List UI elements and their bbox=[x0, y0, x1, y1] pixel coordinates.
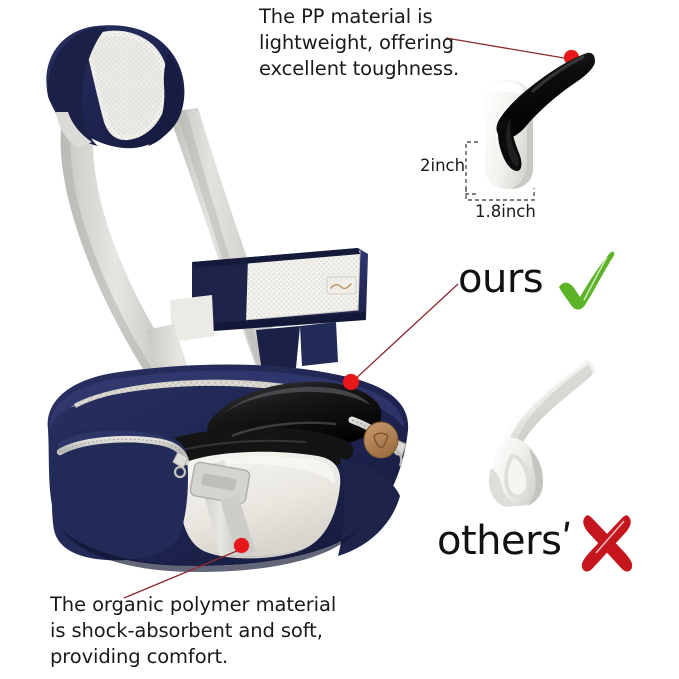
callout-dot-middle bbox=[343, 374, 359, 390]
callout-line-middle bbox=[336, 280, 466, 390]
ours-product-hook bbox=[465, 35, 600, 200]
others-label: othersʹ bbox=[437, 521, 572, 561]
red-cross-icon bbox=[576, 509, 638, 579]
ours-black-lever bbox=[497, 53, 596, 171]
others-product-hook bbox=[465, 330, 615, 520]
leather-patch bbox=[364, 422, 398, 458]
others-white-hook-body bbox=[489, 438, 543, 507]
ours-label: ours bbox=[458, 259, 543, 299]
callout-dot-bottom bbox=[234, 538, 249, 553]
dimension-width-label: 1.8inch bbox=[475, 202, 536, 221]
others-white-arm bbox=[503, 360, 595, 450]
infographic-canvas: The PP material is lightweight, offering… bbox=[0, 0, 679, 679]
callout-text-bottom: The organic polymer material is shock-ab… bbox=[50, 592, 400, 670]
dimension-height-label: 2inch bbox=[420, 156, 465, 175]
shoulder-pad bbox=[46, 25, 184, 148]
green-check-icon bbox=[549, 243, 621, 315]
